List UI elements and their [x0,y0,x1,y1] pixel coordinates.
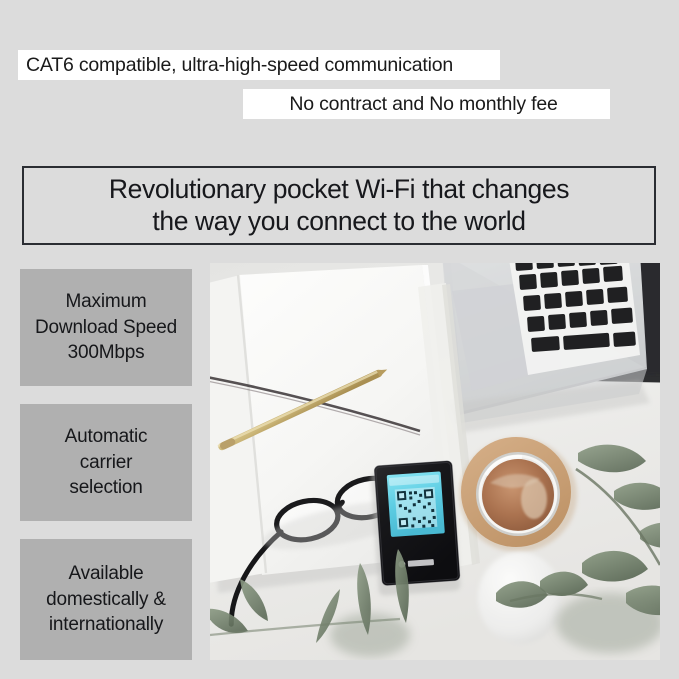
feature-line: Download Speed [35,315,177,341]
feature-card-available-domestically-internationally: Available domestically & internationally [20,539,192,660]
feature-line: 300Mbps [68,340,145,366]
feature-line: Maximum [66,289,147,315]
feature-card-automatic-carrier-selection: Automatic carrier selection [20,404,192,521]
feature-line: carrier [80,450,132,476]
feature-line: domestically & [46,587,166,613]
feature-line: Automatic [65,424,148,450]
headline-line-2: the way you connect to the world [152,206,525,237]
cat6-banner: CAT6 compatible, ultra-high-speed commun… [18,50,500,80]
feature-line: Available [69,561,144,587]
black-pocket-wifi-router [370,461,461,596]
feature-card-maximum-download-speed: Maximum Download Speed 300Mbps [20,269,192,386]
headline-line-1: Revolutionary pocket Wi-Fi that changes [109,174,569,205]
headline-box: Revolutionary pocket Wi-Fi that changes … [22,166,656,245]
no-contract-banner: No contract and No monthly fee [243,89,610,119]
no-contract-banner-text: No contract and No monthly fee [289,93,557,116]
cat6-banner-text: CAT6 compatible, ultra-high-speed commun… [26,54,453,77]
product-lifestyle-photo [210,263,660,660]
feature-line: selection [69,475,142,501]
qr-code [395,487,438,530]
feature-line: internationally [49,612,163,638]
